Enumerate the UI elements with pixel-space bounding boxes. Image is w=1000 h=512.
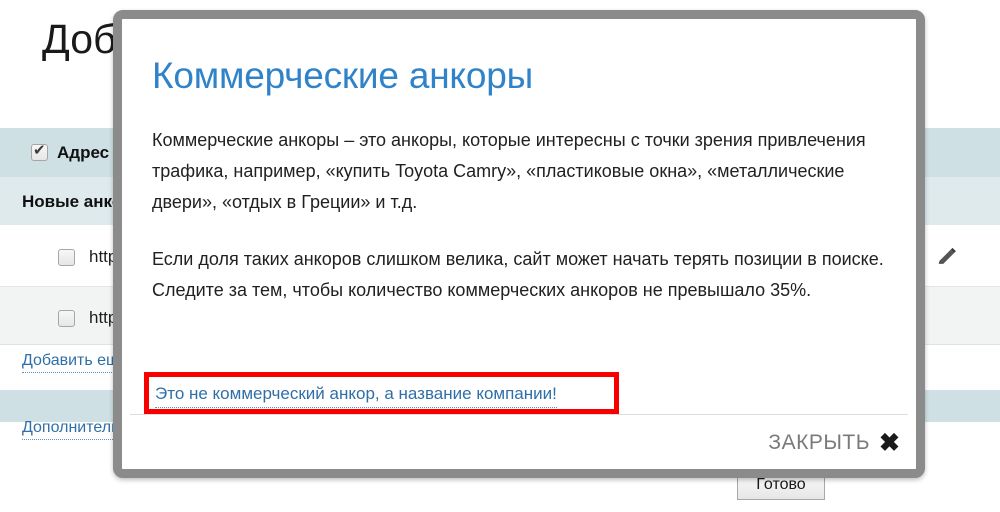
modal-paragraph-1: Коммерческие анкоры – это анкоры, которы… <box>152 99 886 218</box>
company-name-anchor-link[interactable]: Это не коммерческий анкор, а название ко… <box>155 384 557 408</box>
commercial-anchors-modal: Коммерческие анкоры Коммерческие анкоры … <box>113 10 925 478</box>
modal-title: Коммерческие анкоры <box>152 19 886 99</box>
pencil-icon[interactable] <box>936 246 958 268</box>
modal-divider <box>130 414 908 415</box>
close-icon: ✖ <box>879 432 900 454</box>
close-button-label: ЗАКРЫТЬ <box>768 431 870 455</box>
close-button[interactable]: ЗАКРЫТЬ ✖ <box>768 431 900 455</box>
highlight-box: Это не коммерческий анкор, а название ко… <box>144 372 619 414</box>
checkbox-anchor-2[interactable] <box>58 310 75 327</box>
modal-content: Коммерческие анкоры Коммерческие анкоры … <box>122 19 916 469</box>
modal-paragraph-2: Если доля таких анкоров слишком велика, … <box>152 218 886 306</box>
checkbox-address[interactable] <box>31 144 48 161</box>
checkbox-anchor-1[interactable] <box>58 249 75 266</box>
